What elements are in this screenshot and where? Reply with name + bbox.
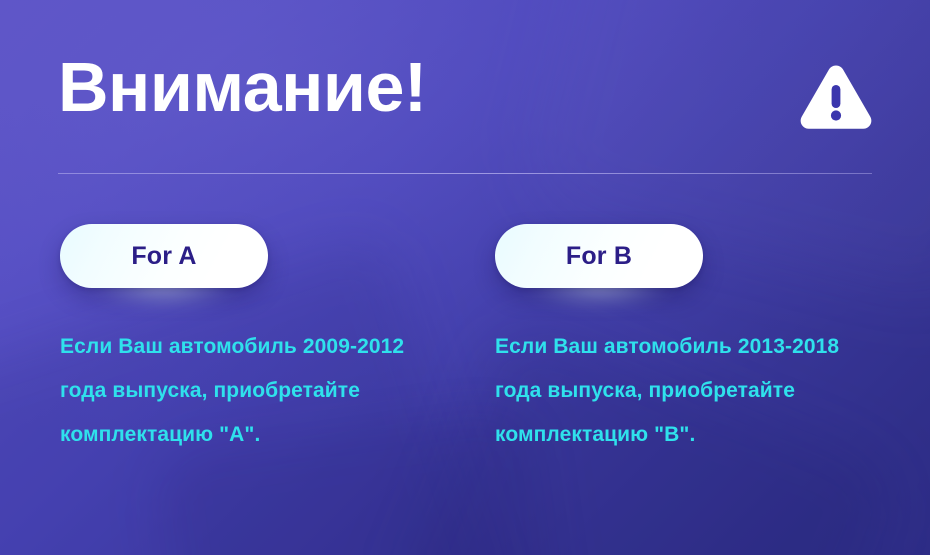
header-divider [58, 173, 872, 174]
option-column-b: For B Если Ваш автомобиль 2013-2018 года… [495, 224, 895, 457]
for-a-button-label: For A [131, 244, 196, 269]
option-a-description: Если Ваш автомобиль 2009-2012 года выпус… [60, 288, 442, 457]
attention-banner: Внимание! For A Если Ваш автомобиль 2009… [0, 0, 930, 555]
pill-wrap-a: For A [60, 224, 268, 288]
option-b-description: Если Ваш автомобиль 2013-2018 года выпус… [495, 288, 877, 457]
page-title: Внимание! [58, 52, 427, 122]
for-a-button[interactable]: For A [60, 224, 268, 288]
warning-triangle-icon [797, 58, 875, 136]
option-column-a: For A Если Ваш автомобиль 2009-2012 года… [60, 224, 460, 457]
for-b-button-label: For B [566, 244, 632, 269]
pill-wrap-b: For B [495, 224, 703, 288]
for-b-button[interactable]: For B [495, 224, 703, 288]
